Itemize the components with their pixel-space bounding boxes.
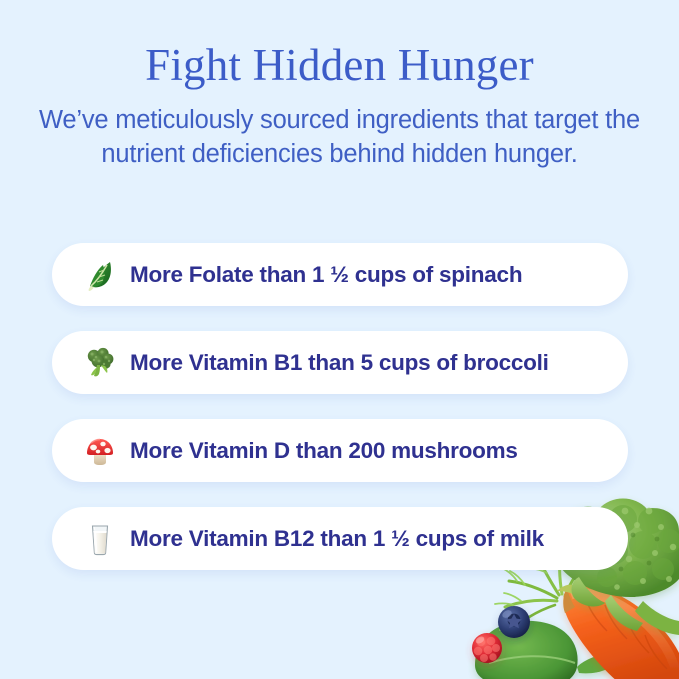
- infographic-poster: Fight Hidden Hunger We’ve meticulously s…: [0, 0, 679, 679]
- header: Fight Hidden Hunger We’ve meticulously s…: [0, 0, 679, 172]
- benefit-card-label: More Vitamin B1 than 5 cups of broccoli: [126, 350, 549, 376]
- blueberry-photo: [498, 606, 530, 638]
- spinach-leaf-photo: [475, 621, 625, 679]
- mushroom-icon: [74, 434, 126, 468]
- milk-glass-icon: [74, 522, 126, 556]
- benefit-card-vitamin-b1[interactable]: More Vitamin B1 than 5 cups of broccoli: [52, 331, 628, 394]
- benefit-card-vitamin-d[interactable]: More Vitamin D than 200 mushrooms: [52, 419, 628, 482]
- benefit-card-label: More Vitamin B12 than 1 ½ cups of milk: [126, 526, 544, 552]
- benefit-card-list: More Folate than 1 ½ cups of spinach: [52, 243, 628, 570]
- benefit-card-label: More Folate than 1 ½ cups of spinach: [126, 262, 522, 288]
- benefit-card-folate[interactable]: More Folate than 1 ½ cups of spinach: [52, 243, 628, 306]
- benefit-card-vitamin-b12[interactable]: More Vitamin B12 than 1 ½ cups of milk: [52, 507, 628, 570]
- page-title: Fight Hidden Hunger: [0, 0, 679, 90]
- carrot-photo: [557, 585, 679, 679]
- page-subtitle: We’ve meticulously sourced ingredients t…: [0, 90, 679, 172]
- leafy-green-icon: [74, 258, 126, 292]
- broccoli-icon: [74, 346, 126, 380]
- benefit-card-label: More Vitamin D than 200 mushrooms: [126, 438, 518, 464]
- raspberry-photo: [472, 633, 502, 663]
